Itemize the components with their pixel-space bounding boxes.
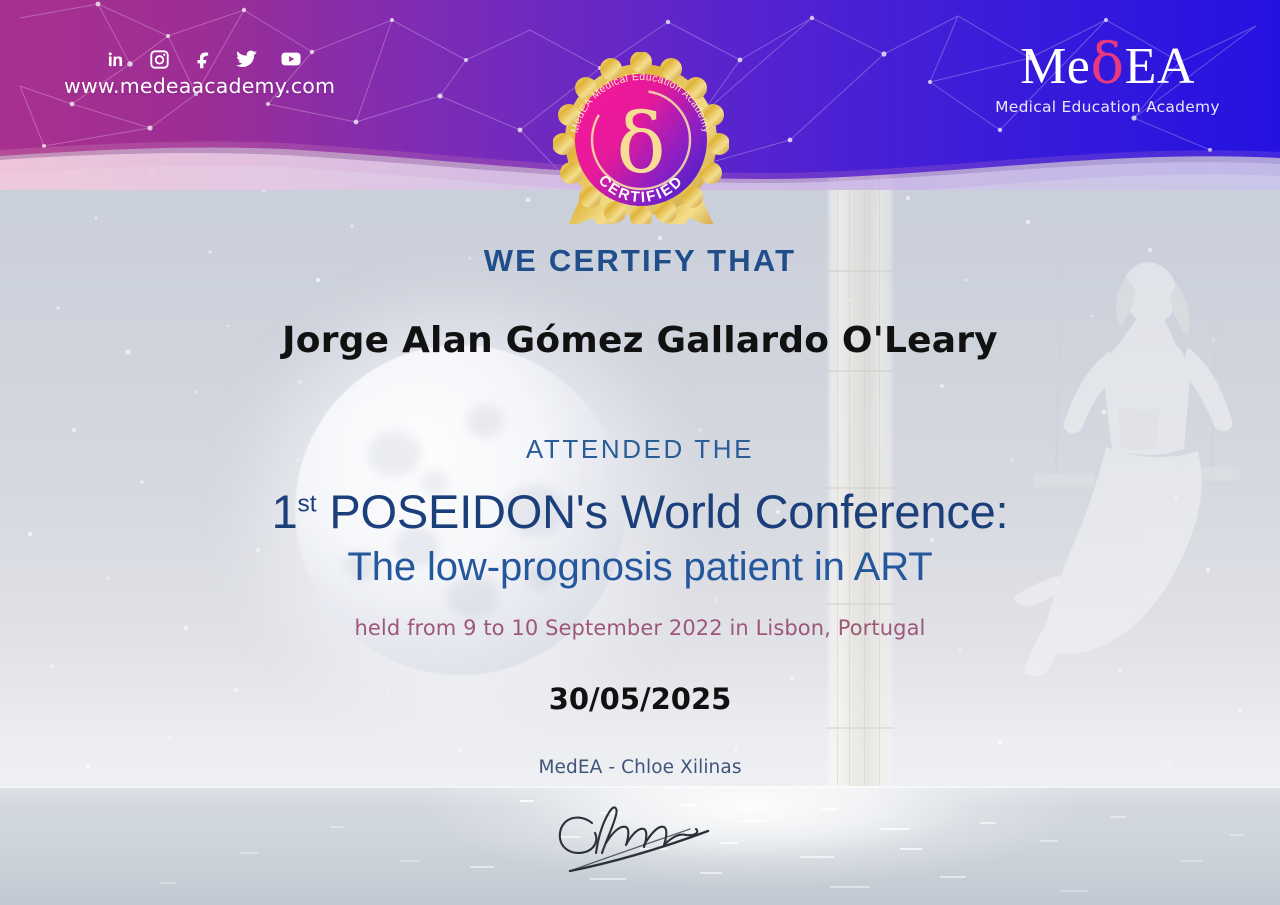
handwritten-signature: [540, 795, 740, 875]
title-line1-rest: POSEIDON's World Conference:: [329, 485, 1008, 538]
conference-title-line2: The low-prognosis patient in ART: [0, 545, 1280, 590]
signer-name: MedEA - Chloe Xilinas: [0, 757, 1280, 778]
title-ordinal-suffix: st: [298, 490, 317, 517]
event-dates-location: held from 9 to 10 September 2022 in Lisb…: [0, 616, 1280, 640]
we-certify-heading: WE CERTIFY THAT: [0, 243, 1280, 279]
attended-label: ATTENDED THE: [0, 434, 1280, 465]
issue-date: 30/05/2025: [0, 682, 1280, 716]
certificate-body: WE CERTIFY THAT Jorge Alan Gómez Gallard…: [0, 0, 1280, 905]
title-ordinal: 1: [272, 485, 298, 538]
recipient-name: Jorge Alan Gómez Gallardo O'Leary: [0, 320, 1280, 361]
conference-title-line1: 1st POSEIDON's World Conference:: [0, 484, 1280, 539]
certificate-page: www.medeaacademy.com MeδEA Medical Educa…: [0, 0, 1280, 905]
